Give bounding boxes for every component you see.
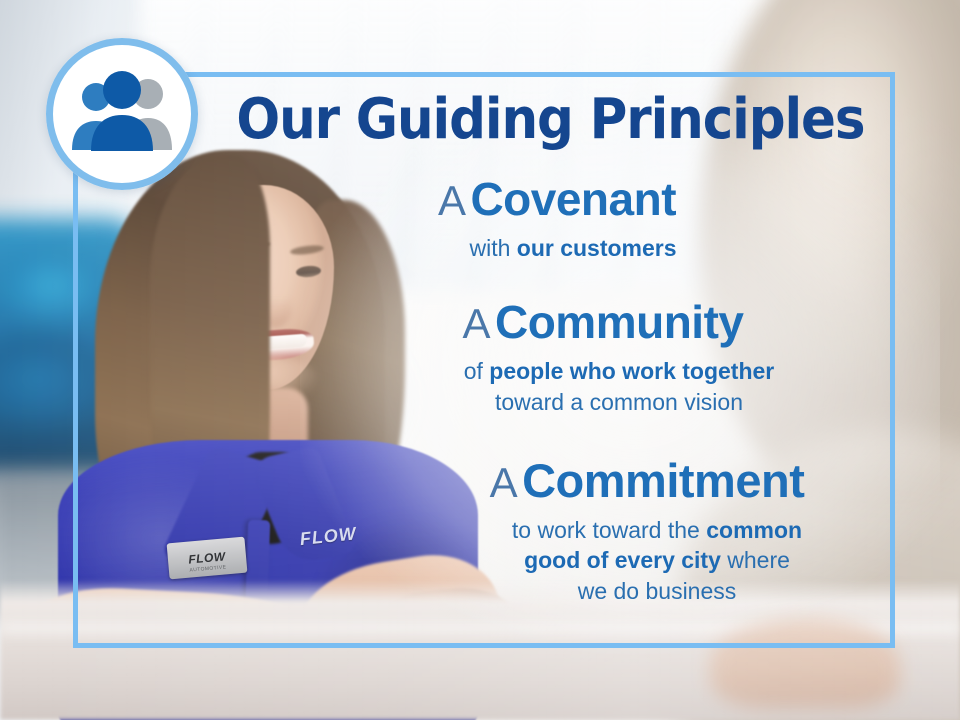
principle-subtext: with our customers — [278, 233, 868, 263]
principle-item: A Community of people who work togethert… — [300, 299, 890, 417]
subtext-run: to work toward the — [512, 517, 706, 543]
name-badge-brand: FLOW — [188, 550, 226, 565]
employee-name-badge: FLOW AUTOMOTIVE — [167, 537, 248, 580]
subtext-emphasis: people who work together — [489, 358, 774, 384]
principle-heading: A Covenant — [262, 176, 852, 223]
principle-keyword: Commitment — [522, 454, 804, 507]
subtext-run: with — [469, 235, 516, 261]
guiding-principles-poster: FLOW AUTOMOTIVE FLOW Our Guiding Pr — [0, 0, 960, 720]
principle-heading: A Community — [308, 299, 898, 346]
principle-lead-article: A — [490, 459, 518, 506]
subtext-run: of — [464, 358, 490, 384]
principle-keyword: Community — [495, 296, 744, 348]
principle-item: A Commitment to work toward the commongo… — [300, 457, 890, 606]
principle-subtext: to work toward the commongood of every c… — [362, 515, 952, 606]
principle-lead-article: A — [438, 177, 466, 224]
principle-keyword: Covenant — [470, 173, 676, 225]
principle-subtext: of people who work togethertoward a comm… — [324, 356, 914, 417]
page-title: Our Guiding Principles — [236, 92, 843, 148]
subtext-emphasis: our customers — [517, 235, 677, 261]
subtext-emphasis: good of every city — [524, 547, 721, 573]
subtext-emphasis: common — [706, 517, 802, 543]
principle-heading: A Commitment — [352, 457, 942, 505]
principle-item: A Covenant with our customers — [300, 176, 890, 263]
people-group-icon — [66, 68, 178, 156]
subtext-run: we do business — [578, 578, 737, 604]
subtext-run: where — [721, 547, 790, 573]
subtext-run: toward a common vision — [495, 389, 743, 415]
blurred-customer-hand — [710, 618, 900, 708]
principle-lead-article: A — [463, 300, 491, 347]
principles-list: A Covenant with our customers A Communit… — [300, 176, 890, 610]
